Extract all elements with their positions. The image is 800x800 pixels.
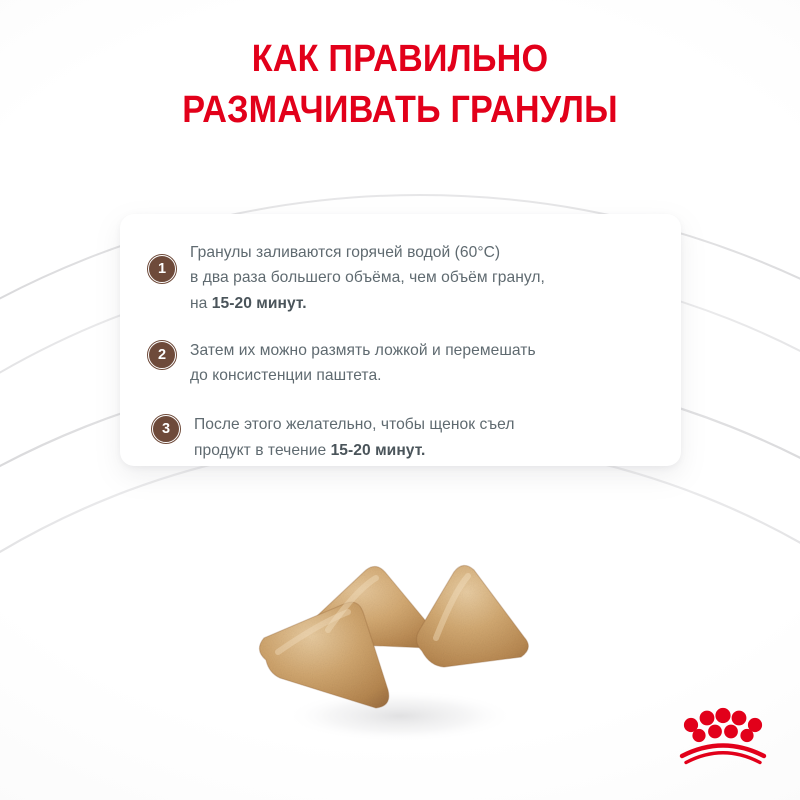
page-title: КАК ПРАВИЛЬНО РАЗМАЧИВАТЬ ГРАНУЛЫ — [40, 34, 760, 135]
step-number-badge: 2 — [148, 341, 176, 369]
step-number-badge: 3 — [152, 415, 180, 443]
instruction-step: 1 Гранулы заливаются горячей водой (60°С… — [148, 240, 657, 316]
poster-canvas: КАК ПРАВИЛЬНО РАЗМАЧИВАТЬ ГРАНУЛЫ 1 Гран… — [0, 0, 800, 800]
royal-canin-crown-logo — [674, 704, 772, 766]
step-text: Затем их можно размять ложкой и перемеша… — [190, 338, 536, 389]
step-text: Гранулы заливаются горячей водой (60°С)в… — [190, 240, 545, 316]
step-number-badge: 1 — [148, 255, 176, 283]
instruction-step: 2 Затем их можно размять ложкой и переме… — [148, 338, 657, 389]
instruction-card: 1 Гранулы заливаются горячей водой (60°С… — [120, 214, 681, 466]
kibble-triangles — [248, 520, 548, 750]
step-text: После этого желательно, чтобы щенок съел… — [194, 412, 515, 463]
instruction-step: 3 После этого желательно, чтобы щенок съ… — [148, 412, 657, 463]
